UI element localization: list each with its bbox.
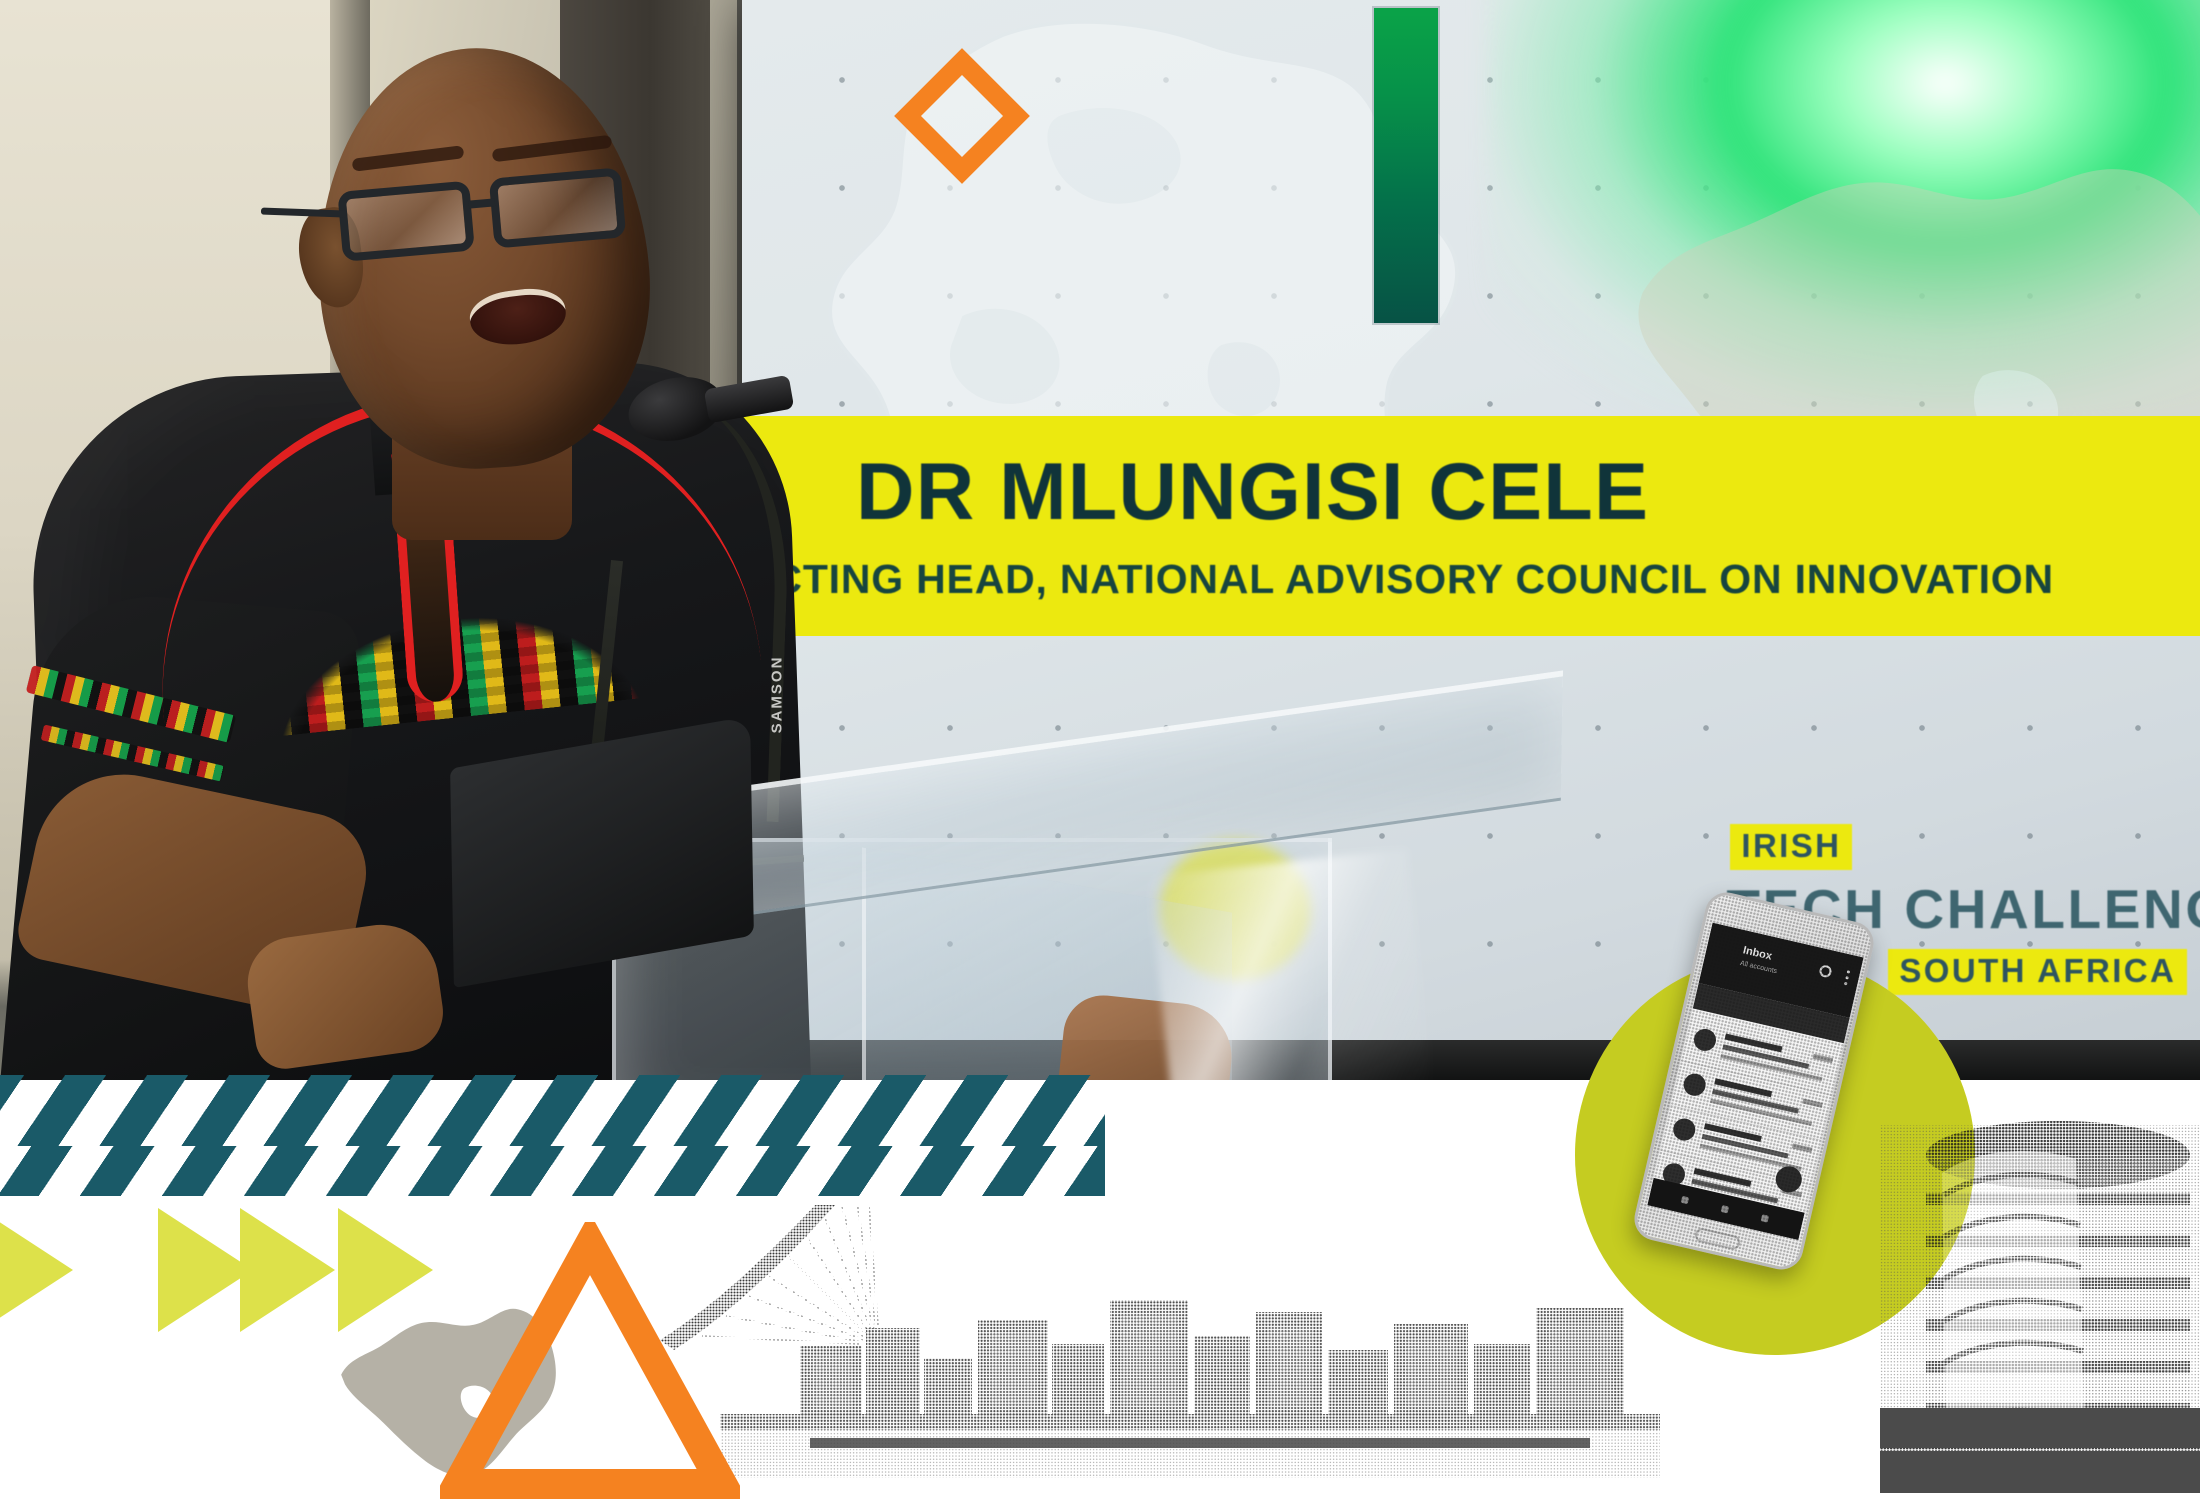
lectern-highlight	[1148, 849, 1432, 1115]
phone-app-title: Inbox	[1742, 944, 1773, 962]
recents-icon[interactable]	[1761, 1214, 1769, 1222]
footer-dark-strip	[1880, 1408, 2200, 1448]
avatar	[1692, 1027, 1718, 1053]
back-icon[interactable]	[1681, 1196, 1689, 1204]
eyeglass-lens	[337, 181, 475, 262]
phone-app-subtitle: All accounts	[1739, 960, 1777, 975]
home-icon[interactable]	[1721, 1205, 1729, 1213]
overflow-menu-icon[interactable]	[1847, 970, 1851, 974]
search-icon[interactable]	[1818, 964, 1832, 978]
screenshot-canvas: DR MLUNGISI CELE ACTING HEAD, NATIONAL A…	[0, 0, 2200, 1500]
microphone-brand-label: SAMSON	[768, 656, 785, 734]
avatar	[1671, 1116, 1697, 1142]
arrow-triangle-icon	[158, 1208, 253, 1332]
logo-line-south-africa: SOUTH AFRICA	[1888, 949, 2187, 995]
logo-line-irish: IRISH	[1730, 824, 1852, 870]
teal-stripe-band-lower	[0, 1146, 1105, 1196]
avatar	[1681, 1072, 1707, 1098]
speaker-hand-left	[242, 917, 448, 1072]
green-bar-graphic	[1374, 8, 1438, 323]
triangle-outline-icon	[440, 1222, 740, 1500]
list-item-time	[1792, 1143, 1813, 1152]
dublin-skyline-icon	[660, 1160, 1660, 1500]
list-item-time	[1802, 1099, 1823, 1108]
eyeglass-lens	[489, 167, 627, 248]
phone-home-button[interactable]	[1694, 1227, 1742, 1251]
arrow-triangle-icon	[0, 1208, 73, 1332]
list-item-time	[1813, 1054, 1834, 1063]
